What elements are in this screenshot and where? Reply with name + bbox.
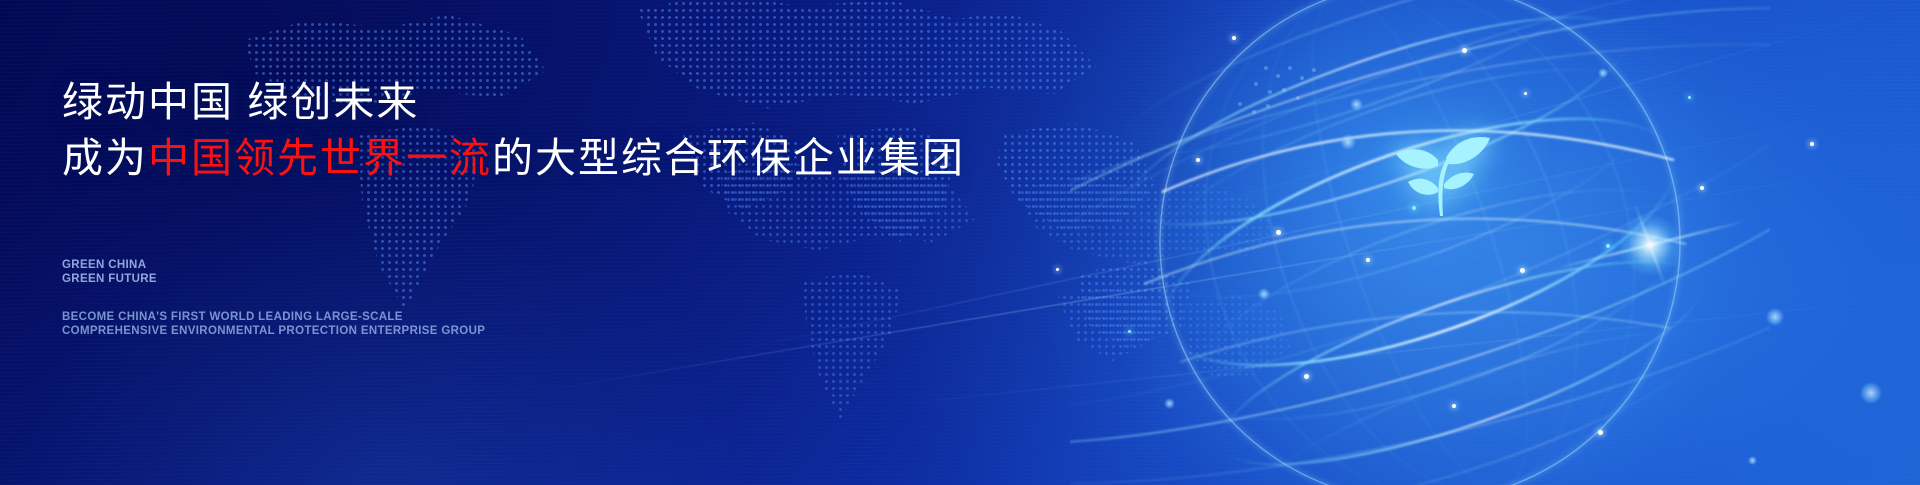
english-description-line-1: BECOME CHINA'S FIRST WORLD LEADING LARGE… — [62, 310, 485, 324]
english-description: BECOME CHINA'S FIRST WORLD LEADING LARGE… — [62, 310, 485, 338]
english-slogan-line-2: GREEN FUTURE — [62, 272, 157, 286]
headline-line-2: 成为中国领先世界一流的大型综合环保企业集团 — [62, 130, 965, 186]
headline-block: 绿动中国 绿创未来 成为中国领先世界一流的大型综合环保企业集团 — [62, 74, 965, 186]
headline-highlight: 中国领先世界一流 — [148, 135, 492, 181]
headline-line-1: 绿动中国 绿创未来 — [62, 74, 965, 130]
english-description-line-2: COMPREHENSIVE ENVIRONMENTAL PROTECTION E… — [62, 324, 485, 338]
headline-suffix: 的大型综合环保企业集团 — [492, 135, 965, 181]
english-slogan: GREEN CHINA GREEN FUTURE — [62, 258, 157, 286]
hero-banner: 绿动中国 绿创未来 成为中国领先世界一流的大型综合环保企业集团 GREEN CH… — [0, 0, 1920, 485]
banner-content: 绿动中国 绿创未来 成为中国领先世界一流的大型综合环保企业集团 GREEN CH… — [0, 0, 1920, 485]
headline-prefix: 成为 — [62, 135, 148, 181]
english-slogan-line-1: GREEN CHINA — [62, 258, 157, 272]
